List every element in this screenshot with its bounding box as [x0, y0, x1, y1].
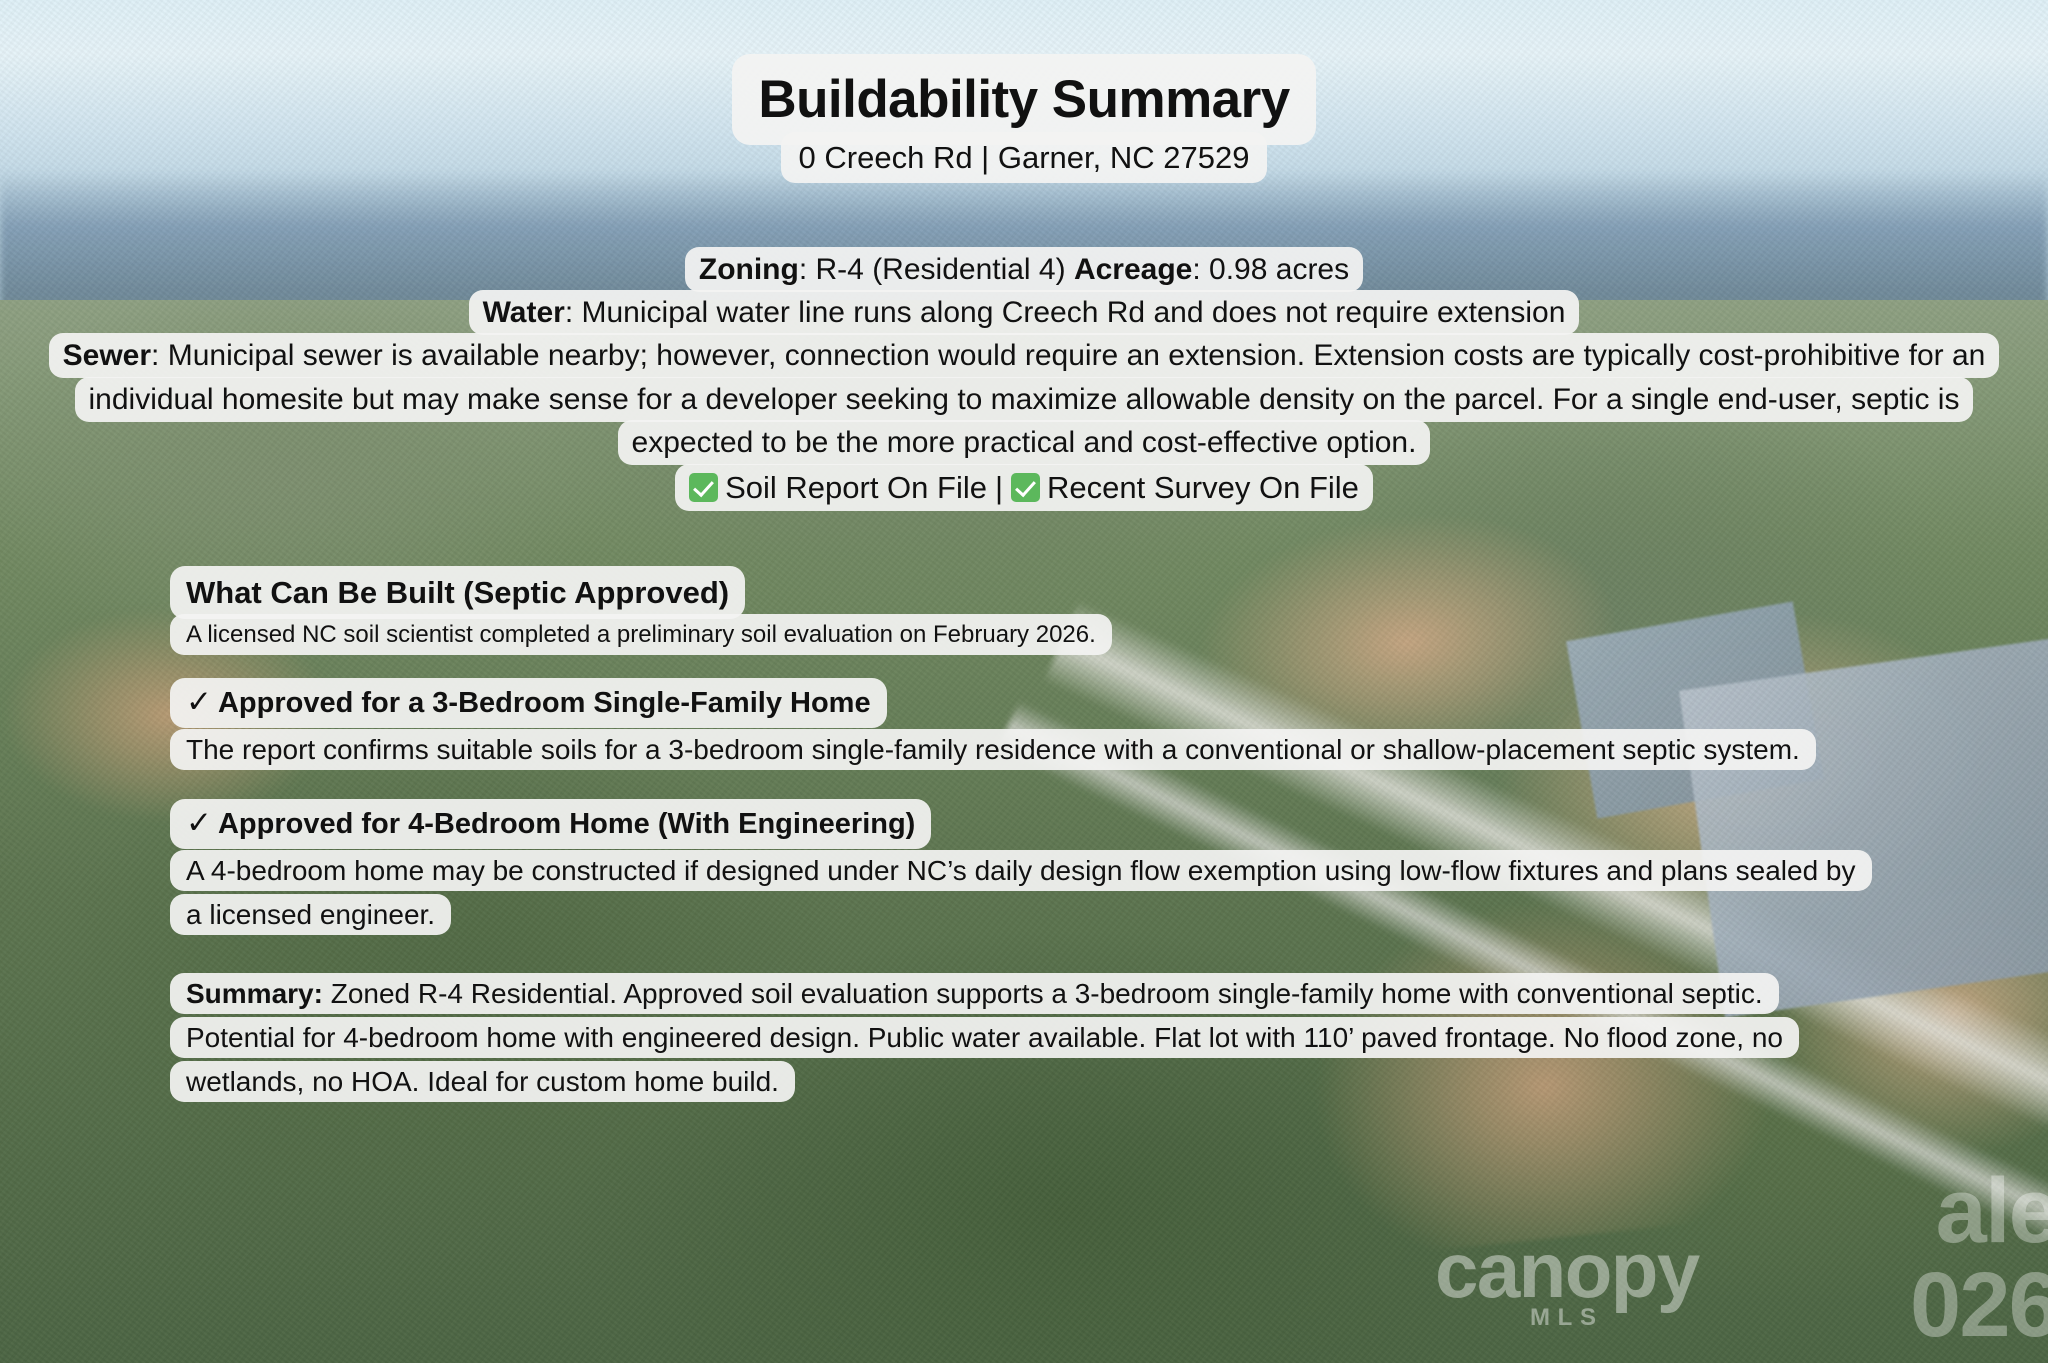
zoning-acreage-line: Zoning: R-4 (Residential 4) Acreage: 0.9… [0, 248, 2048, 291]
badge-separator: | [987, 470, 1011, 505]
acreage-label: Acreage [1074, 253, 1192, 286]
zoning-value: : R-4 (Residential 4) [799, 253, 1074, 286]
approval-item-text: The report confirms suitable soils for a… [170, 728, 1870, 772]
sewer-label: Sewer [63, 339, 151, 372]
sewer-value: : Municipal sewer is available nearby; h… [89, 339, 1986, 458]
summary-label: Summary: [186, 978, 323, 1009]
recent-survey-badge-label: Recent Survey On File [1047, 470, 1359, 505]
section-heading: What Can Be Built (Septic Approved) [170, 572, 1888, 614]
approval-item-title-text: Approved for a 3-Bedroom Single-Family H… [218, 687, 871, 719]
approval-item-body-text-2: A 4-bedroom home may be constructed if d… [170, 850, 1872, 935]
approval-item-title: ✓Approved for a 3-Bedroom Single-Family … [170, 681, 1888, 724]
check-mark-icon: ✓ [186, 684, 212, 719]
approval-item-title-2: ✓Approved for 4-Bedroom Home (With Engin… [170, 802, 1888, 845]
approval-item-3-bedroom: ✓Approved for a 3-Bedroom Single-Family … [170, 681, 1888, 772]
page-title-text: Buildability Summary [732, 54, 1315, 145]
soil-report-badge-label: Soil Report On File [725, 470, 987, 505]
approval-item-body-text: The report confirms suitable soils for a… [170, 729, 1816, 770]
screenshot-stage: canopy MLS ale 026 Buildability Summary … [0, 0, 2048, 1363]
sewer-line: Sewer: Municipal sewer is available near… [44, 334, 2004, 464]
water-value: : Municipal water line runs along Creech… [565, 296, 1566, 329]
page-title: Buildability Summary [0, 70, 2048, 129]
white-check-mark-icon [689, 473, 718, 502]
white-check-mark-icon-2 [1011, 473, 1040, 502]
summary-paragraph: Summary: Zoned R-4 Residential. Approved… [170, 972, 1870, 1105]
approval-item-4-bedroom: ✓Approved for 4-Bedroom Home (With Engin… [170, 802, 1888, 937]
acreage-value: : 0.98 acres [1192, 253, 1349, 286]
section-heading-text: What Can Be Built (Septic Approved) [170, 566, 745, 619]
section-subtext-text: A licensed NC soil scientist completed a… [170, 614, 1112, 655]
section-subtext: A licensed NC soil scientist completed a… [170, 618, 1888, 652]
water-label: Water [483, 296, 565, 329]
water-line: Water: Municipal water line runs along C… [0, 291, 2048, 334]
buildability-details-card: What Can Be Built (Septic Approved) A li… [170, 572, 1888, 1104]
check-mark-icon-2: ✓ [186, 805, 212, 840]
zoning-label: Zoning [699, 253, 799, 286]
facts-group: Zoning: R-4 (Residential 4) Acreage: 0.9… [0, 248, 2048, 509]
text-overlay: Buildability Summary 0 Creech Rd | Garne… [0, 0, 2048, 1363]
page-subtitle-text: 0 Creech Rd | Garner, NC 27529 [781, 132, 1268, 183]
header-group: Buildability Summary 0 Creech Rd | Garne… [0, 70, 2048, 178]
summary-text: Zoned R-4 Residential. Approved soil eva… [186, 978, 1783, 1097]
approval-item-title-text-2: Approved for 4-Bedroom Home (With Engine… [218, 808, 915, 840]
badges-line: Soil Report On File|Recent Survey On Fil… [0, 466, 2048, 509]
page-subtitle: 0 Creech Rd | Garner, NC 27529 [0, 139, 2048, 178]
approval-item-text-2: A 4-bedroom home may be constructed if d… [170, 849, 1870, 937]
